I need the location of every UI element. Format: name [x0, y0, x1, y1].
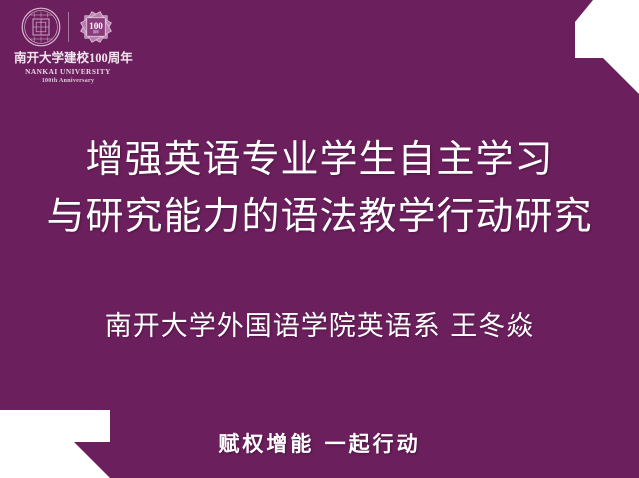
- slide-footer-slogan: 赋权增能 一起行动: [0, 429, 639, 459]
- university-logo-lockup: 100 周年 南开大学建校100周年 NANKAI UNIVERSITY 100…: [14, 4, 122, 85]
- svg-text:周年: 周年: [92, 29, 99, 34]
- slide-subtitle-author: 南开大学外国语学院英语系 王冬焱: [0, 307, 639, 347]
- logo-name-en-sub: 100th Anniversary: [14, 77, 122, 85]
- logo-name-cn: 南开大学建校100周年: [14, 52, 122, 65]
- svg-text:100: 100: [89, 21, 103, 31]
- 100th-anniversary-emblem-icon: 100 周年: [76, 7, 116, 47]
- slide-title: 增强英语专业学生自主学习 与研究能力的语法教学行动研究: [0, 131, 639, 245]
- logo-name-en: NANKAI UNIVERSITY: [14, 67, 122, 76]
- slide-title-line-1: 增强英语专业学生自主学习: [0, 131, 639, 188]
- logo-row: 100 周年: [14, 4, 122, 50]
- presentation-slide: 100 周年 南开大学建校100周年 NANKAI UNIVERSITY 100…: [0, 0, 639, 478]
- nankai-university-seal-icon: [21, 7, 61, 47]
- slide-title-line-2: 与研究能力的语法教学行动研究: [0, 188, 639, 245]
- vertical-divider-icon: [68, 12, 69, 42]
